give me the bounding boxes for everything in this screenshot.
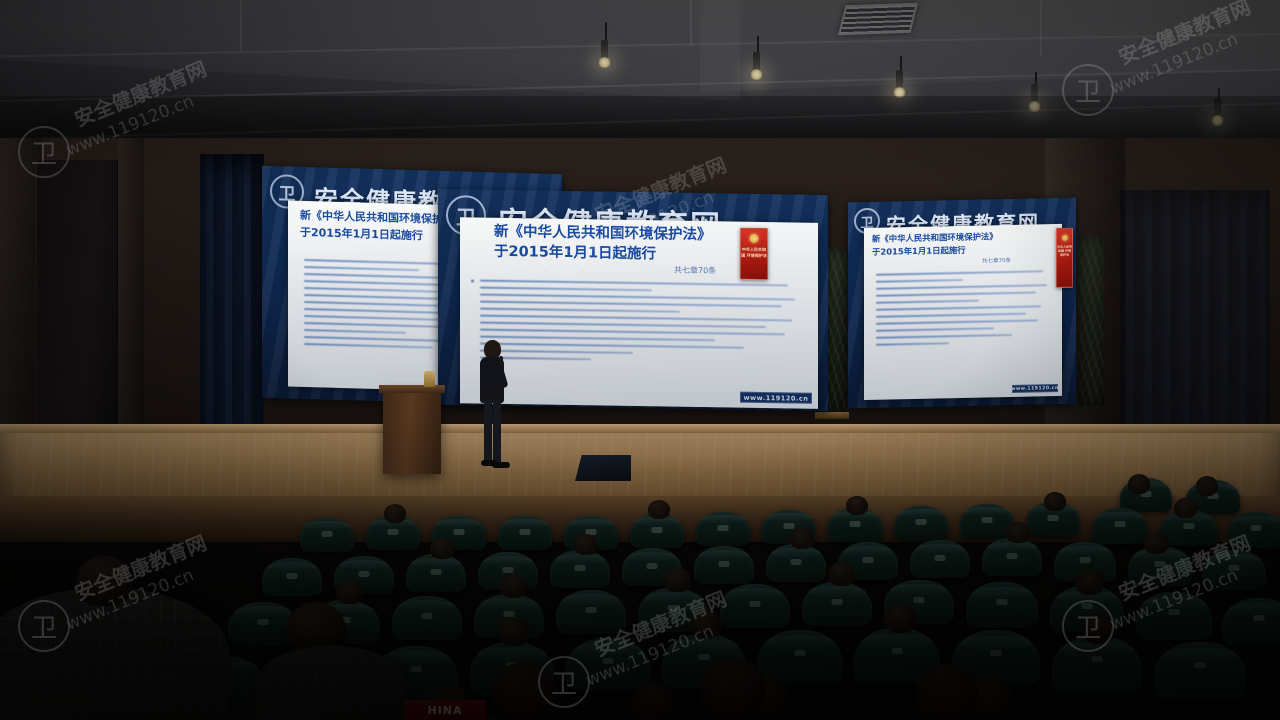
carved-wall-relief xyxy=(1078,236,1104,406)
seat[interactable] xyxy=(966,582,1038,628)
seat[interactable] xyxy=(894,506,948,540)
presenter xyxy=(472,340,514,478)
presenter-leg xyxy=(484,400,492,462)
ceiling-spotlight xyxy=(753,52,760,72)
seat[interactable] xyxy=(498,516,552,550)
seat[interactable] xyxy=(696,512,750,546)
seat[interactable] xyxy=(1092,508,1148,544)
slide-bullets-center xyxy=(480,280,798,369)
attendee-head xyxy=(1196,476,1218,496)
attendee-head xyxy=(1082,614,1116,644)
podium-top xyxy=(379,385,445,393)
attendee-head xyxy=(498,618,530,646)
ceiling-air-vent xyxy=(838,3,918,36)
foreground-attendee-head xyxy=(76,556,132,606)
seat[interactable] xyxy=(766,544,826,582)
law-book-label-right: 中华人民共和国 环境保护法 xyxy=(1057,245,1072,258)
ceiling-spotlight xyxy=(896,70,903,90)
attendee-head xyxy=(664,568,691,592)
slide-title-line2-center: 于2015年1月1日起施行 xyxy=(494,244,656,265)
seat[interactable] xyxy=(392,596,462,640)
slide-url-badge-center: www.119120.cn xyxy=(740,392,812,404)
seat[interactable] xyxy=(1228,512,1280,548)
light-rod xyxy=(605,22,607,42)
slide-right: 新《中华人民共和国环境保护法》 于2015年1月1日起施行 共七章70条 www… xyxy=(864,224,1062,400)
attendee-head xyxy=(1174,498,1197,518)
attendee-head xyxy=(1006,522,1030,543)
seat[interactable] xyxy=(910,540,970,578)
attendee-head xyxy=(632,682,676,720)
seat[interactable] xyxy=(406,554,466,592)
stage-front-edge xyxy=(0,424,1280,433)
stage-curtain xyxy=(200,154,264,454)
attendee-head xyxy=(1144,532,1169,554)
attendee-head xyxy=(1044,492,1066,511)
ceiling-seam xyxy=(1040,0,1042,56)
ceiling-seam xyxy=(690,0,692,46)
seat[interactable] xyxy=(556,590,626,634)
seat[interactable] xyxy=(630,514,684,548)
attendee-head xyxy=(828,562,855,586)
attendee-head xyxy=(790,528,814,549)
slide-subtitle-center: 共七章70条 xyxy=(674,265,716,277)
foreground-red-banner: HINA xyxy=(404,700,486,720)
seat[interactable] xyxy=(262,558,322,596)
slide-title-line2-right: 于2015年1月1日起施行 xyxy=(872,245,966,257)
side-door[interactable] xyxy=(36,160,118,460)
attendee-head xyxy=(336,580,363,604)
foreground-attendee-head xyxy=(492,662,556,720)
attendee-head xyxy=(648,500,670,519)
ceiling-spotlight xyxy=(601,40,608,60)
slide-title-line2-left: 于2015年1月1日起施行 xyxy=(300,226,423,243)
attendee-head xyxy=(574,534,598,555)
attendee-head xyxy=(884,604,917,633)
seat[interactable] xyxy=(1052,636,1142,694)
ceiling-panel xyxy=(700,0,1280,92)
foreground-attendee-plaid-jacket xyxy=(0,588,230,720)
seat[interactable] xyxy=(1154,642,1246,700)
foreground-attendee-head xyxy=(700,658,766,720)
podium-emblem xyxy=(424,371,435,387)
law-book-graphic-center: 中华人民共和国 环境保护法 xyxy=(740,228,768,280)
seat[interactable] xyxy=(720,584,790,628)
attendee-head xyxy=(430,538,454,559)
seat[interactable] xyxy=(550,550,610,588)
slide-title-line1-center: 新《中华人民共和国环境保护法》 xyxy=(494,224,712,245)
seat[interactable] xyxy=(1202,550,1266,590)
foreground-attendee-head xyxy=(916,664,978,720)
seat[interactable] xyxy=(1136,592,1212,640)
law-book-graphic-right: 中华人民共和国 环境保护法 xyxy=(1056,228,1073,288)
seat[interactable] xyxy=(1222,598,1280,646)
presenter-leg xyxy=(493,400,501,462)
ceiling-seam xyxy=(240,0,242,52)
attendee-head xyxy=(1076,570,1104,595)
seat[interactable] xyxy=(300,518,354,552)
seat[interactable] xyxy=(802,582,872,626)
attendee-head xyxy=(1128,474,1150,494)
slide-url-badge-right: www.119120.cn xyxy=(1012,384,1058,393)
photo-scene: 卫 安全健康教育网 新《中华人民共和国环境保护法》 于2015年1月1日起施行 … xyxy=(0,0,1280,720)
projection-screen-right: 卫 安全健康教育网 新《中华人民共和国环境保护法》 于2015年1月1日起施行 … xyxy=(848,198,1076,409)
slide-subtitle-right: 共七章70条 xyxy=(982,256,1011,265)
relief-base xyxy=(815,412,849,419)
presenter-shoe xyxy=(492,462,510,468)
seat[interactable] xyxy=(566,638,650,692)
attendee-head xyxy=(690,610,722,638)
microphone xyxy=(499,356,503,367)
seat[interactable] xyxy=(982,538,1042,576)
attendee-head xyxy=(500,574,527,598)
seat[interactable] xyxy=(694,546,754,584)
ceiling xyxy=(0,0,1280,150)
slide-bullets-right xyxy=(876,270,1050,351)
slide-title-line1-right: 新《中华人民共和国环境保护法》 xyxy=(872,231,998,244)
attendee-head xyxy=(846,496,868,515)
foreground-attendee-shoulders xyxy=(256,646,406,720)
law-book-label-center: 中华人民共和国 环境保护法 xyxy=(741,247,767,259)
attendee-head xyxy=(384,504,406,523)
podium xyxy=(383,390,441,474)
